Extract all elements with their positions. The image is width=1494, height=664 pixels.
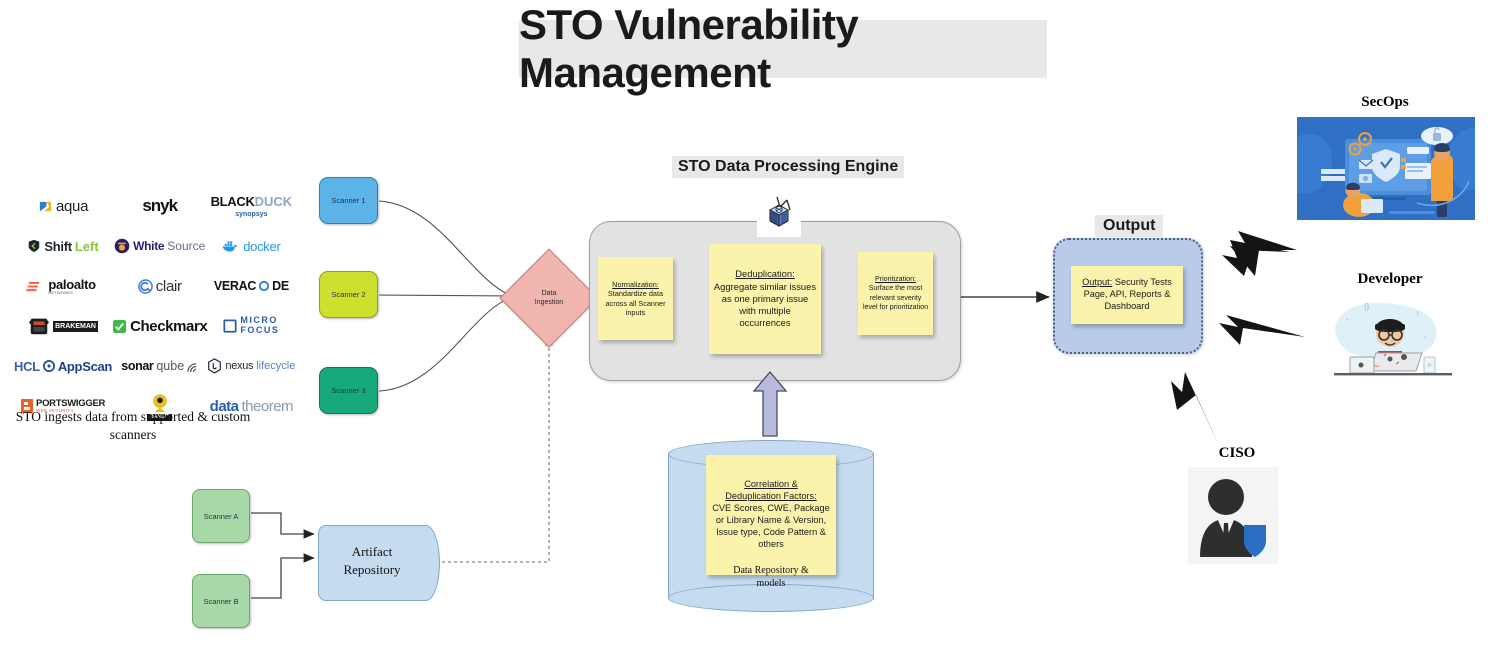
note-correlation-factors: Correlation & Deduplication Factors: CVE… (706, 455, 836, 575)
note-prioritization-body: Surface the most relevant severity level… (863, 284, 928, 310)
scanner-2-node[interactable]: Scanner 2 (319, 271, 378, 318)
note-correlation-title-line1: Correlation & (744, 479, 798, 489)
wire-scannerA-to-artifact (251, 513, 314, 534)
repository-to-engine-arrow (752, 371, 788, 437)
ciso-label: CISO (1182, 445, 1292, 462)
data-ingestion-label-line2: Ingestion (535, 298, 563, 307)
data-ingestion-label-line1: Data (542, 289, 557, 298)
vendor-logo-sonarqube: sonarqube (121, 359, 198, 373)
nexus-hex-icon (207, 358, 222, 374)
scanner-a-node[interactable]: Scanner A (192, 489, 250, 543)
note-deduplication-body: Aggregate similar issues as one primary … (714, 281, 816, 329)
vendor-logo-micro-focus: MICRO FOCUS (223, 316, 279, 336)
note-deduplication: Deduplication: Aggregate similar issues … (709, 244, 821, 354)
docker-whale-icon (222, 240, 240, 253)
secops-label: SecOps (1300, 94, 1470, 111)
developer-illustration: {} ♪ * ‹ (1320, 295, 1464, 381)
note-normalization-title: Normalization: (612, 280, 659, 289)
page-title: STO Vulnerability Management (519, 20, 1047, 78)
vendor-logo-whitesource: WhiteSource (114, 238, 205, 254)
output-heading: Output (1095, 215, 1163, 237)
svg-text:♪: ♪ (1416, 310, 1420, 317)
engine-heading: STO Data Processing Engine (672, 156, 904, 178)
vendor-logo-black-duck: BLACKDUCK synopsys (211, 194, 293, 218)
vendor-logo-snyk: snyk (142, 196, 177, 216)
arrow-secops-to-output (1222, 240, 1290, 276)
vendor-logo-docker: docker (222, 239, 280, 254)
note-normalization-body: Standardize data across all Scanner inpu… (605, 289, 665, 317)
note-deduplication-title: Deduplication: (735, 268, 794, 279)
vendor-logo-aqua: aqua (38, 198, 88, 215)
data-repository-label-line2: models (668, 577, 874, 590)
note-output: Output: Security Tests Page, API, Report… (1071, 266, 1183, 324)
developer-label: Developer (1305, 271, 1475, 288)
arrow-ciso-to-output-shape (1171, 372, 1222, 452)
note-correlation-body: CVE Scores, CWE, Package or Library Name… (712, 503, 829, 549)
vendor-logo-paloalto: paloalto NETWORKS (30, 278, 95, 295)
whitesource-icon (114, 238, 130, 254)
artifact-repository-node[interactable]: Artifact Repository (318, 525, 440, 601)
scanner-1-node[interactable]: Scanner 1 (319, 177, 378, 224)
scanner-ingest-caption: STO ingests data from supported & custom… (8, 408, 258, 444)
paloalto-icon (30, 280, 45, 293)
scanner-1-label: Scanner 1 (331, 196, 365, 205)
wire-scanner1-to-ingestion (379, 201, 512, 296)
vendor-logo-veracode: VERAC DE (214, 279, 289, 293)
micro-focus-icon (223, 319, 237, 333)
arrow-developer-to-output-shape (1219, 315, 1305, 345)
ciso-illustration (1188, 467, 1278, 564)
veracode-o-icon (259, 281, 269, 291)
scanner-a-label: Scanner A (204, 512, 239, 521)
vendor-logo-clair: clair (138, 278, 182, 295)
wire-scanner2-to-ingestion (379, 295, 512, 296)
scanner-vendor-logo-grid: aqua snyk BLACKDUCK synopsys ShiftLeft W… (14, 186, 272, 426)
arrow-secops-to-output-shape (1230, 231, 1297, 276)
vendor-logo-hcl-appscan: HCL AppScan (14, 359, 112, 374)
note-prioritization-title: Prioritization: (875, 275, 916, 283)
svg-text:‹: ‹ (1424, 335, 1426, 341)
scanner-b-label: Scanner B (203, 597, 238, 606)
svg-text:{}: {} (1364, 302, 1370, 311)
hcl-circle-icon (43, 360, 55, 372)
scanner-2-label: Scanner 2 (331, 290, 365, 299)
checkmarx-check-icon (112, 319, 127, 334)
wire-scanner3-to-ingestion (379, 297, 512, 391)
clair-icon (138, 279, 153, 294)
artifact-repository-label-line1: Artifact (318, 543, 426, 561)
scanner-3-node[interactable]: Scanner 3 (319, 367, 378, 414)
vendor-logo-brakeman: BRAKEMAN (28, 315, 98, 337)
brakeman-icon (28, 315, 50, 337)
secops-illustration (1297, 117, 1475, 220)
aqua-icon (38, 199, 53, 214)
scanner-b-node[interactable]: Scanner B (192, 574, 250, 628)
vendor-logo-shiftleft: ShiftLeft (27, 239, 98, 254)
note-prioritization: Prioritization: Surface the most relevan… (858, 252, 933, 335)
note-correlation-title-line2: Deduplication Factors: (725, 491, 816, 501)
vendor-logo-checkmarx: Checkmarx (112, 318, 207, 335)
shiftleft-icon (27, 239, 41, 253)
vendor-logo-nexus-lifecycle: nexus lifecycle (207, 358, 295, 374)
note-normalization: Normalization: Standardize data across a… (598, 257, 673, 340)
scanner-3-label: Scanner 3 (331, 386, 365, 395)
artifact-repository-label-line2: Repository (318, 561, 426, 579)
wire-artifact-to-ingestion (442, 337, 549, 562)
sonarqube-waves-icon (187, 360, 198, 373)
wire-scannerB-to-artifact (251, 558, 314, 598)
data-repository-label-line1: Data Repository & (668, 564, 874, 577)
diagram-canvas: STO Vulnerability Management aqua snyk B… (0, 0, 1494, 664)
data-ingestion-node[interactable]: Data Ingestion (514, 263, 584, 333)
note-output-title: Output: (1082, 277, 1112, 287)
package-cube-icon (757, 193, 801, 237)
